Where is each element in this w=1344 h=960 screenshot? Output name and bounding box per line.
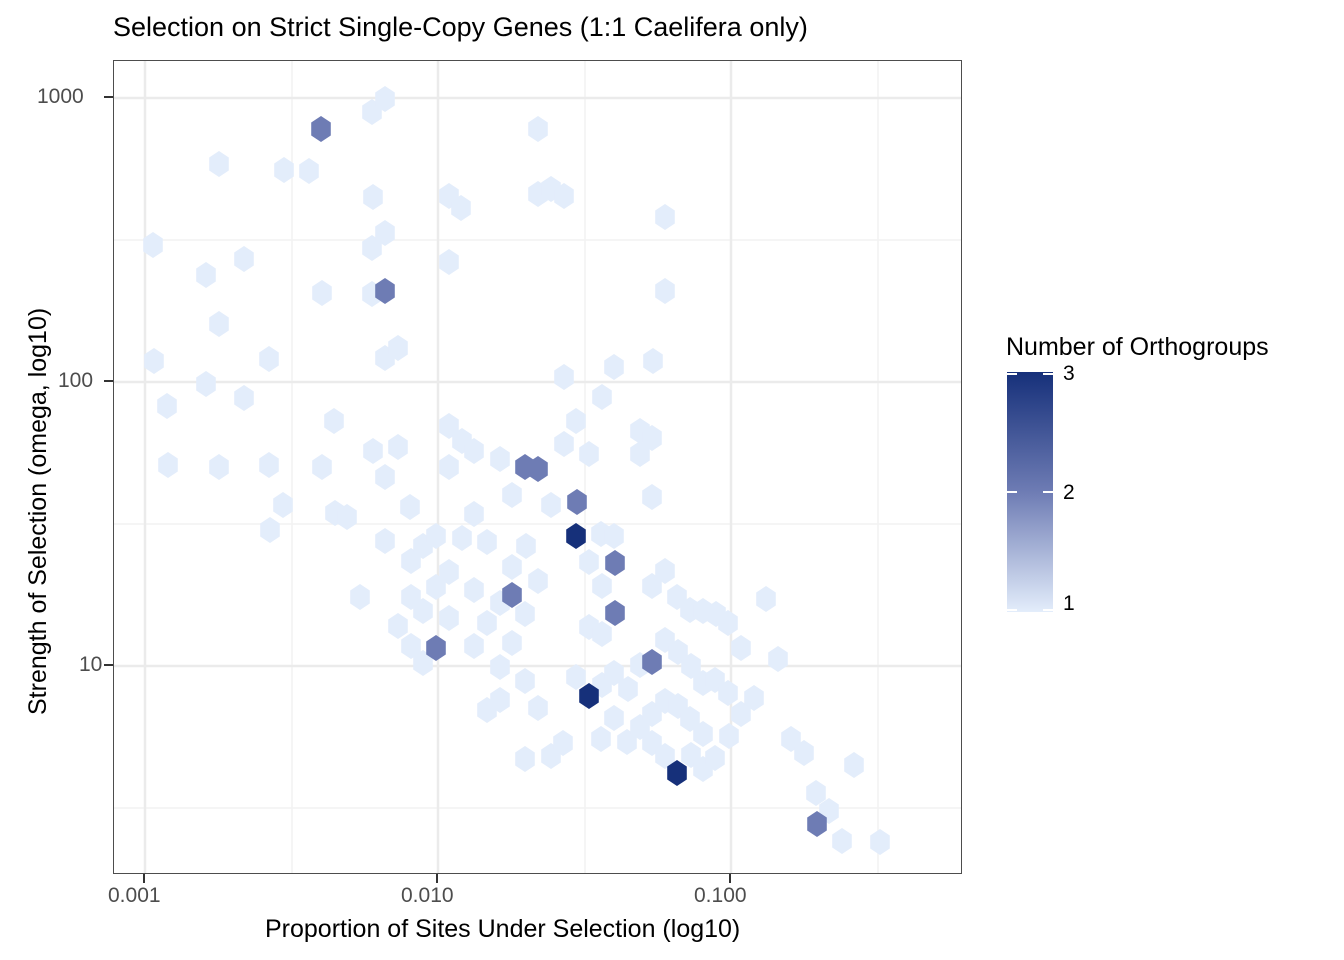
- hexbin-cell: [209, 454, 229, 480]
- x-axis-title: Proportion of Sites Under Selection (log…: [265, 915, 740, 944]
- hexbin-cell: [756, 586, 776, 612]
- hexbin-cell: [209, 311, 229, 337]
- hexbin-cell: [655, 278, 675, 304]
- hexbin-cell: [516, 533, 536, 559]
- hexbin-cell: [502, 482, 522, 508]
- hexbin-cell: [452, 525, 472, 551]
- hexbin-cell: [312, 280, 332, 306]
- plot-panel: [113, 60, 962, 874]
- hexbin-cell: [768, 646, 788, 672]
- hexbin-cell: [528, 695, 548, 721]
- hexbin-cell: [643, 348, 663, 374]
- hexbin-cell: [554, 431, 574, 457]
- hexbin-cell: [439, 249, 459, 275]
- hexbin-cell: [566, 664, 586, 690]
- x-tickmark-0.010: [436, 874, 438, 883]
- x-tick-label-0.010: 0.010: [401, 884, 454, 908]
- hexbin-cell: [464, 501, 484, 527]
- hexbin-cell: [604, 354, 624, 380]
- hexbin-cell: [274, 157, 294, 183]
- hexbin-cell: [363, 438, 383, 464]
- hexbin-cell: [605, 550, 625, 576]
- hexbin-cell: [363, 184, 383, 210]
- hexbin-cell: [388, 434, 408, 460]
- x-tickmark-0.100: [729, 874, 731, 883]
- hexbin-cell: [579, 549, 599, 575]
- hexbin-cell: [642, 484, 662, 510]
- hexbin-cell: [832, 828, 852, 854]
- hexbin-cell: [655, 204, 675, 230]
- legend-title: Number of Orthogroups: [1006, 333, 1269, 362]
- chart-figure: Selection on Strict Single-Copy Genes (1…: [0, 0, 1344, 960]
- legend-tick-label-3: 3: [1063, 362, 1075, 386]
- hexbin-cell: [870, 829, 890, 855]
- hexbin-cell: [477, 610, 497, 636]
- hexbin-cell: [375, 528, 395, 554]
- y-tick-label-100: 100: [58, 369, 93, 393]
- hexbin-cell: [464, 577, 484, 603]
- hexbin-cell: [731, 635, 751, 661]
- hexbin-cell: [311, 116, 331, 142]
- hexbin-cell: [567, 489, 587, 515]
- hexbin-cell: [196, 371, 216, 397]
- hexbin-plot-area: [114, 61, 962, 874]
- hexbin-cell: [439, 605, 459, 631]
- hexbin-cell: [502, 554, 522, 580]
- y-tickmark-1000: [104, 96, 113, 98]
- hexbin-cell: [324, 408, 344, 434]
- x-tickmark-0.001: [143, 874, 145, 883]
- hexbin-cell: [490, 654, 510, 680]
- hexbin-cell: [515, 746, 535, 772]
- hexbin-cell: [844, 752, 864, 778]
- hexbin-cell: [528, 568, 548, 594]
- x-tick-label-0.100: 0.100: [694, 884, 747, 908]
- hexbin-cell: [157, 393, 177, 419]
- hexbin-cell: [259, 452, 279, 478]
- hexbin-cell: [541, 492, 561, 518]
- hexbin-cell: [400, 494, 420, 520]
- page-title: Selection on Strict Single-Copy Genes (1…: [113, 10, 808, 44]
- hexbin-cell: [604, 705, 624, 731]
- hexbin-cell: [312, 454, 332, 480]
- y-axis-title: Strength of Selection (omega, log10): [24, 308, 53, 715]
- legend-colorbar: [1007, 372, 1053, 612]
- hexbin-cell: [259, 346, 279, 372]
- hexbin-cell: [234, 385, 254, 411]
- hexbin-cell: [260, 517, 280, 543]
- hexbin-cell: [144, 348, 164, 374]
- hexbin-cell: [158, 452, 178, 478]
- y-tick-label-1000: 1000: [37, 85, 84, 109]
- hexbin-cell: [490, 446, 510, 472]
- hexbin-cell: [234, 246, 254, 272]
- hexbin-cell: [439, 454, 459, 480]
- hexbin-cell: [515, 601, 535, 627]
- hexbin-cell: [719, 723, 739, 749]
- legend-tick-label-1: 1: [1063, 592, 1075, 616]
- y-tickmark-100: [104, 380, 113, 382]
- hexbin-cell: [502, 630, 522, 656]
- hexbin-cell: [350, 584, 370, 610]
- hexbin-cell: [464, 633, 484, 659]
- hexbin-cell: [579, 441, 599, 467]
- legend-tick-label-2: 2: [1063, 481, 1075, 505]
- hexbin-cell: [375, 464, 395, 490]
- y-tick-label-10: 10: [79, 653, 102, 677]
- y-tickmark-10: [104, 664, 113, 666]
- hexbin-cell: [299, 158, 319, 184]
- hexbin-cell: [591, 726, 611, 752]
- hexbin-cell: [592, 573, 612, 599]
- hexbin-cell: [477, 529, 497, 555]
- hexbin-cell: [554, 364, 574, 390]
- hexbin-cell: [566, 408, 586, 434]
- hexbin-cell: [605, 600, 625, 626]
- hexbin-cell: [566, 523, 586, 549]
- hexbin-cell: [592, 384, 612, 410]
- x-tick-label-0.001: 0.001: [108, 884, 161, 908]
- hexbin-cell: [273, 492, 293, 518]
- hexbin-cell: [528, 116, 548, 142]
- hexbin-cell: [515, 668, 535, 694]
- hexbin-marks: [143, 86, 890, 855]
- hexbin-cell: [209, 151, 229, 177]
- hexbin-cell: [196, 262, 216, 288]
- hexbin-cell: [388, 613, 408, 639]
